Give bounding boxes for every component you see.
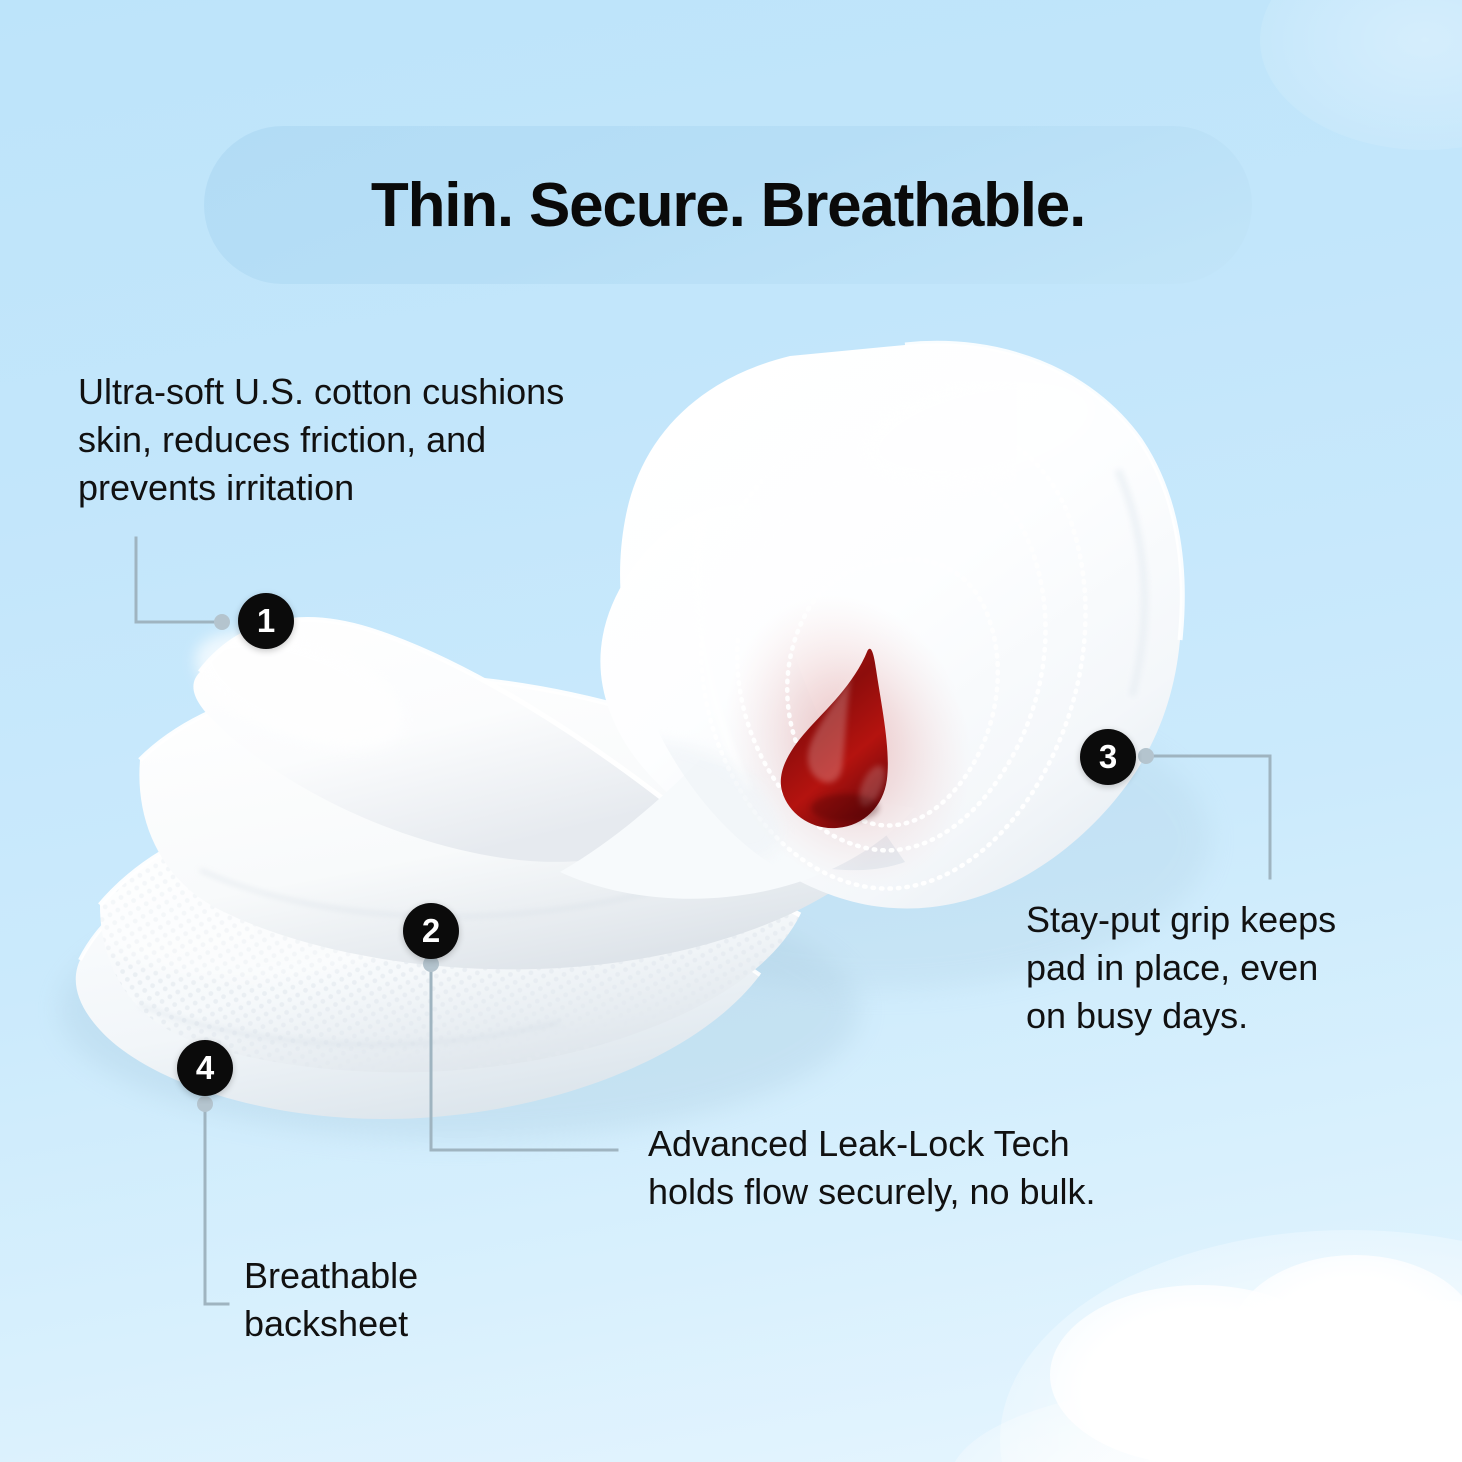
leader-line-2: [431, 968, 617, 1150]
cloud-haze-top-right: [1260, 0, 1462, 150]
page-title: Thin. Secure. Breathable.: [204, 126, 1252, 284]
blood-droplet: [775, 639, 905, 835]
cloud-bottom-right-c: [1140, 1330, 1462, 1462]
callout-text-4: Breathable backsheet: [244, 1252, 584, 1348]
callout-text-1: Ultra-soft U.S. cotton cushions skin, re…: [78, 368, 718, 512]
callout-marker-2[interactable]: 2: [403, 903, 459, 959]
callout-marker-3[interactable]: 3: [1080, 729, 1136, 785]
cloud-haze-bottom-right: [1000, 1230, 1462, 1462]
cloud-bottom-right-a: [1050, 1285, 1350, 1462]
leader-line-4: [205, 1108, 228, 1304]
callout-text-3: Stay-put grip keeps pad in place, even o…: [1026, 896, 1430, 1040]
leader-dot-1: [214, 614, 230, 630]
leader-line-1: [136, 538, 218, 622]
infographic-canvas: Thin. Secure. Breathable. 1 2 3 4 Ultra-…: [0, 0, 1462, 1462]
cloud-haze-bottom-edge: [950, 1380, 1462, 1462]
leader-dot-3: [1138, 748, 1154, 764]
cloud-bottom-right-d: [1330, 1300, 1462, 1462]
leader-dot-4: [197, 1096, 213, 1112]
leader-line-3: [1148, 756, 1270, 878]
callout-marker-1[interactable]: 1: [238, 593, 294, 649]
cloud-bottom-right-b: [1230, 1255, 1462, 1425]
callout-marker-4[interactable]: 4: [177, 1040, 233, 1096]
callout-text-2: Advanced Leak-Lock Tech holds flow secur…: [648, 1120, 1228, 1216]
